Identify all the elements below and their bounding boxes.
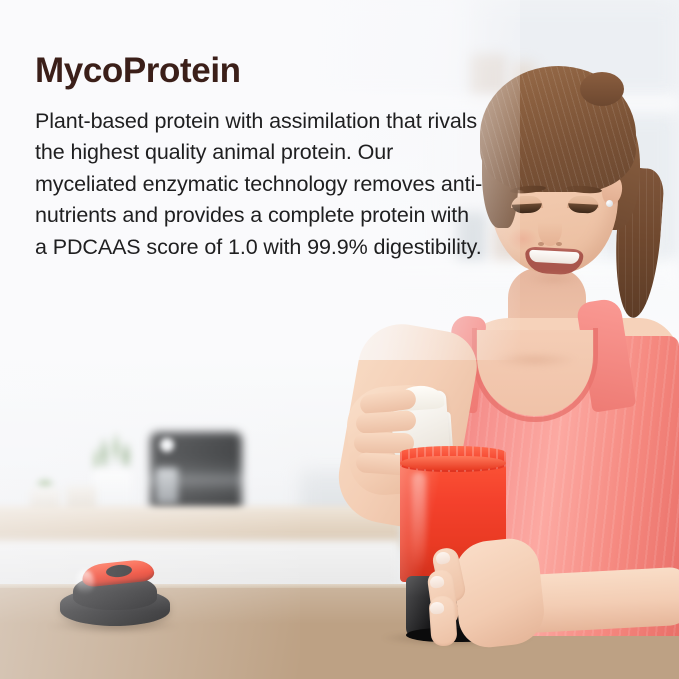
- appliance-knob: [160, 438, 174, 452]
- page-title: MycoProtein: [35, 52, 485, 90]
- bottle-lid: [60, 560, 170, 626]
- copy-block: MycoProtein Plant-based protein with ass…: [35, 52, 485, 263]
- appliance-glass-carafe: [156, 468, 178, 504]
- body-paragraph: Plant-based protein with assimilation th…: [35, 106, 485, 264]
- fingernail: [430, 602, 445, 615]
- hand-holding-bottle: [451, 536, 548, 650]
- product-lifestyle-banner: MycoProtein Plant-based protein with ass…: [0, 0, 679, 679]
- lid-highlight: [76, 570, 94, 594]
